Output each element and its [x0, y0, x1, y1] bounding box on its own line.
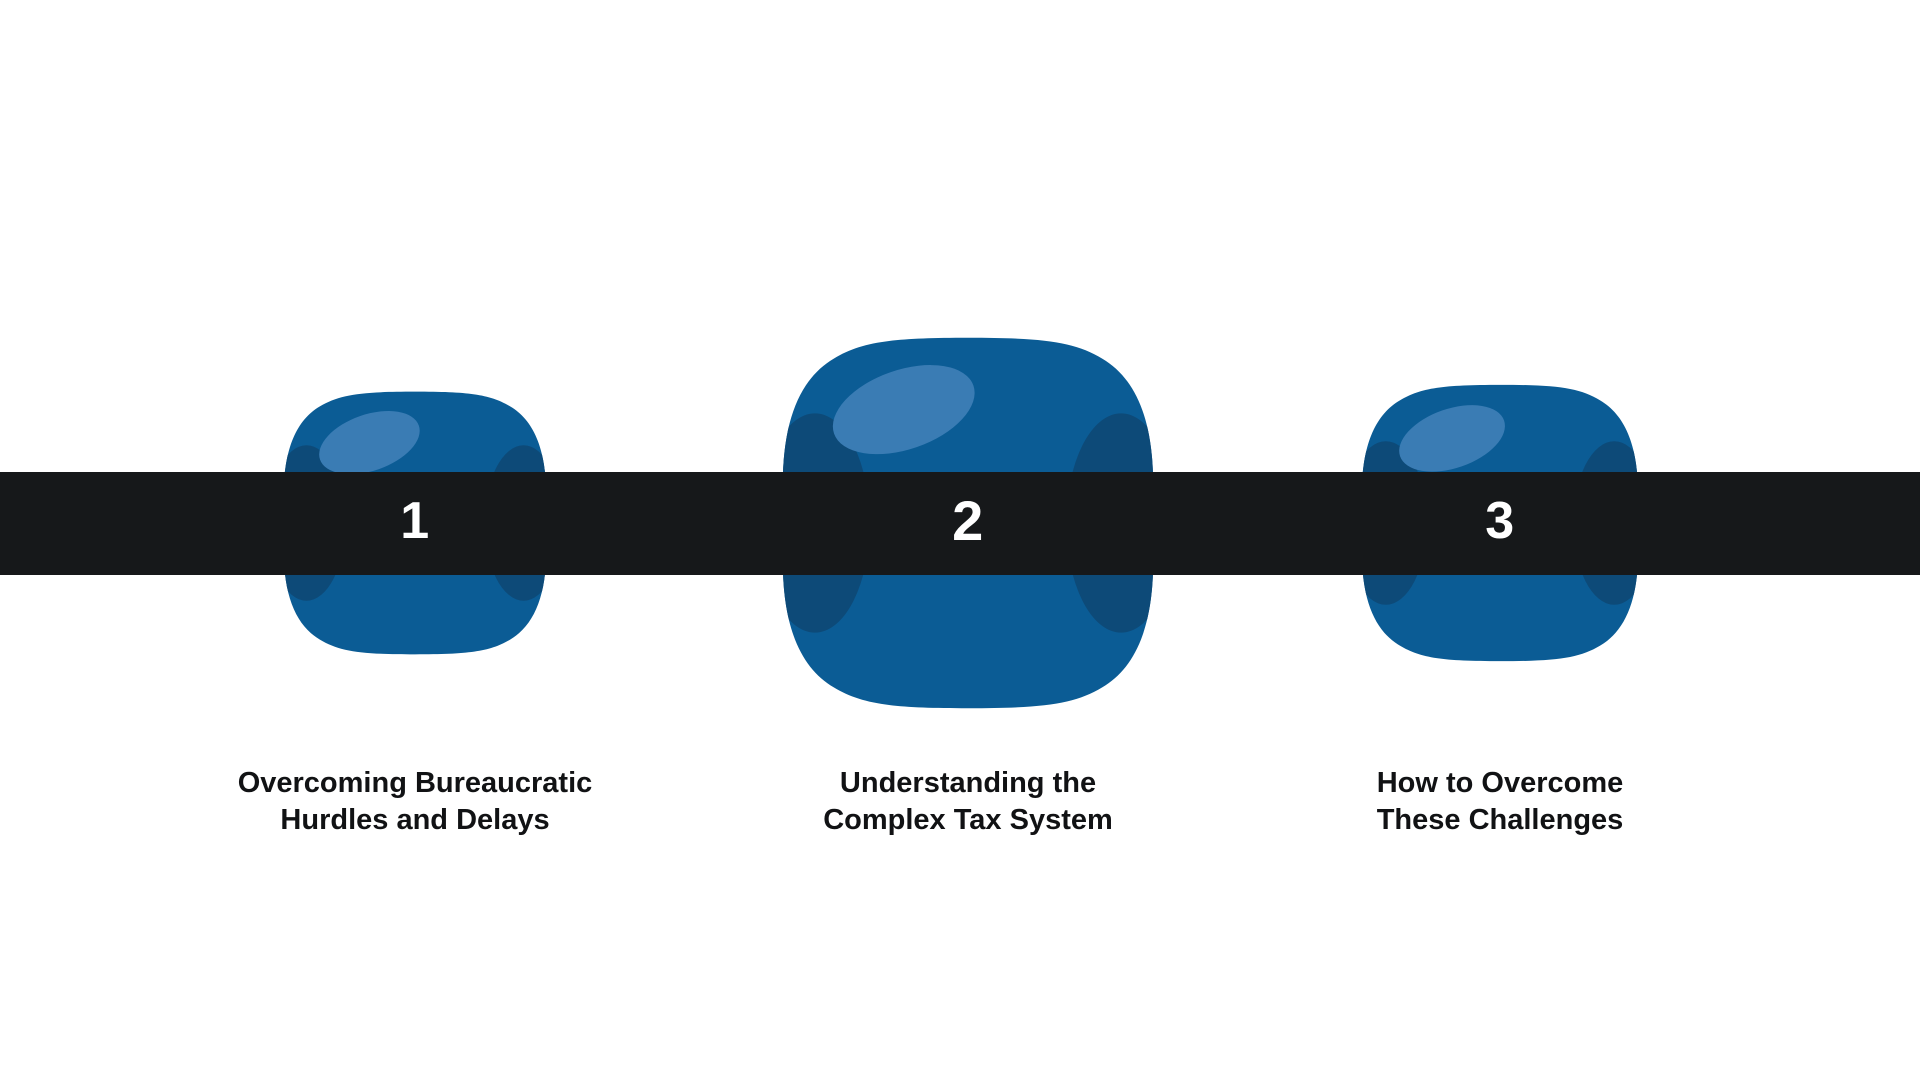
step-number-2: 2 — [779, 493, 1157, 549]
step-label-2: Understanding the Complex Tax System — [698, 765, 1238, 839]
step-number-1: 1 — [281, 495, 549, 547]
step-label-1: Overcoming Bureaucratic Hurdles and Dela… — [145, 765, 685, 839]
infographic-canvas: 1Overcoming Bureaucratic Hurdles and Del… — [0, 0, 1920, 1080]
step-number-3: 3 — [1359, 495, 1641, 547]
step-label-3: How to Overcome These Challenges — [1230, 765, 1770, 839]
